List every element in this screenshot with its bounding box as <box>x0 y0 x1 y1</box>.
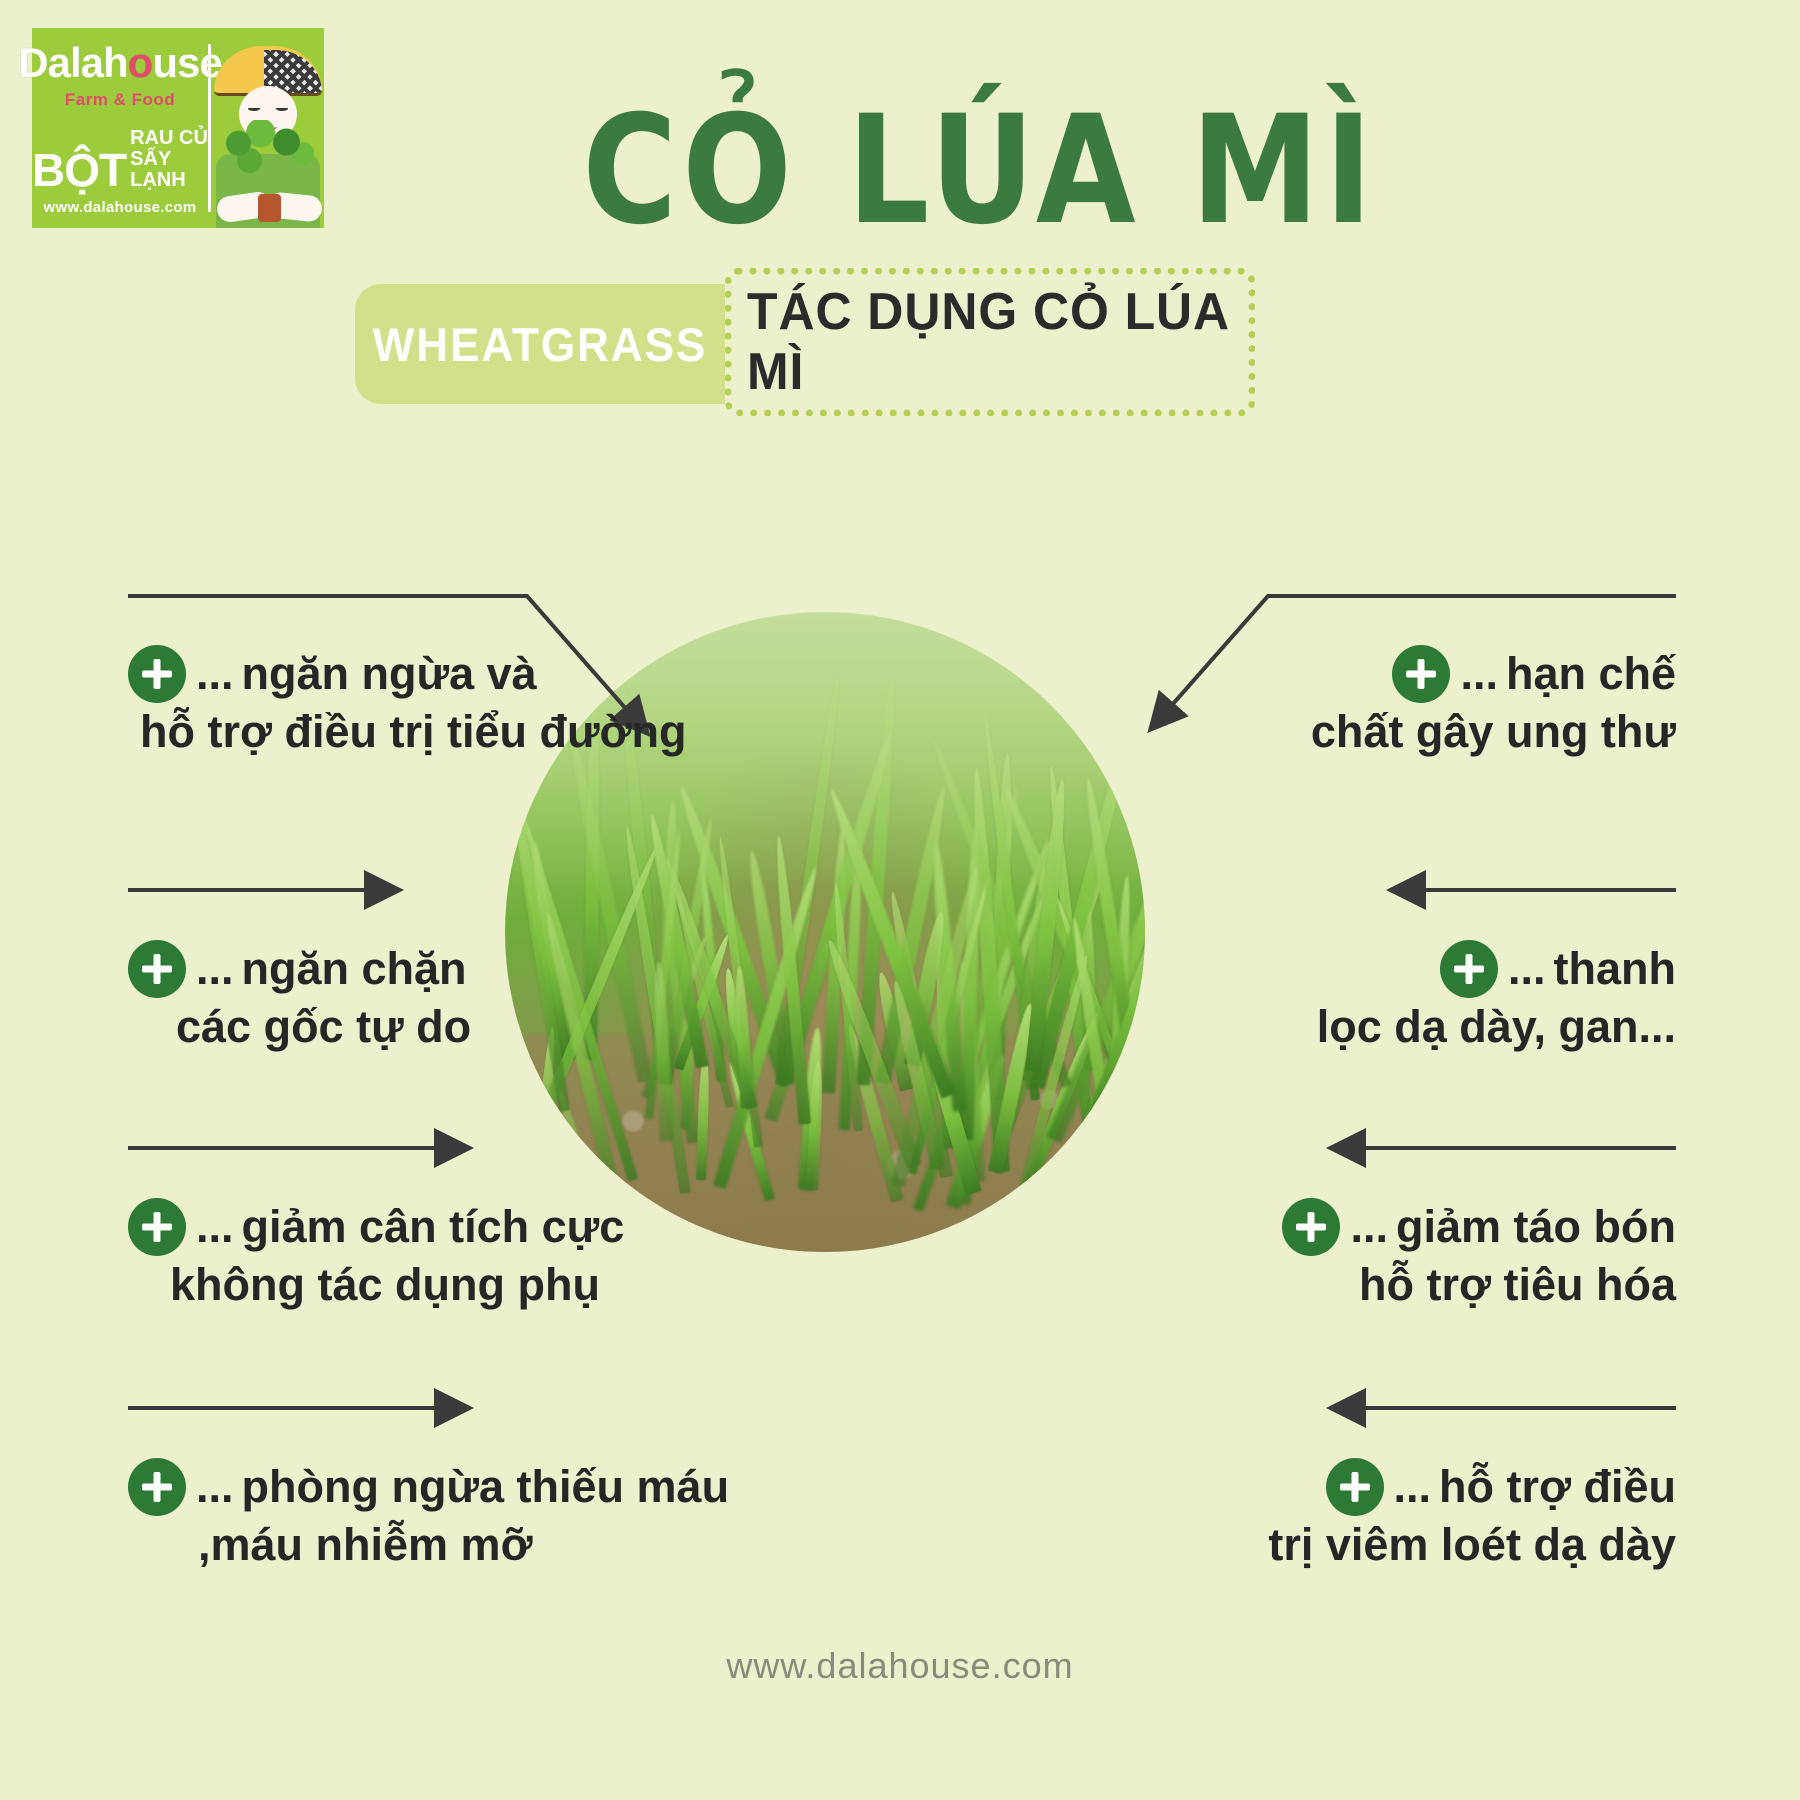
benefit-text-line2: lọc dạ dày, gan... <box>1317 998 1676 1056</box>
benefit-text-line2: hỗ trợ điều trị tiểu đường <box>140 703 687 761</box>
brand-logo-left: Dalahouse Farm & Food BỘT RAU CỦ SẤY LẠN… <box>32 28 208 228</box>
product-name-row: BỘT RAU CỦ SẤY LẠNH <box>32 128 208 191</box>
vegetables-icon <box>222 120 314 178</box>
plus-icon <box>128 1198 186 1256</box>
brand-wordmark-part-a: Dalah <box>18 39 127 86</box>
benefit-left-3: ... giảm cân tích cực không tác dụng phụ <box>128 1198 624 1314</box>
benefit-left-4: ... phòng ngừa thiếu máu ,máu nhiễm mỡ <box>128 1458 729 1574</box>
subtitle-text: TÁC DỤNG CỎ LÚA MÌ <box>747 268 1235 416</box>
benefit-text-line1: hỗ trợ điều <box>1439 1458 1676 1516</box>
plus-icon <box>1392 645 1450 703</box>
benefit-ellipsis: ... <box>1460 648 1498 700</box>
benefit-ellipsis: ... <box>196 648 234 700</box>
brand-wordmark: Dalahouse <box>18 42 221 84</box>
brand-logo-badge: Dalahouse Farm & Food BỘT RAU CỦ SẤY LẠN… <box>32 28 324 228</box>
benefit-text-line2: trị viêm loét dạ dày <box>1268 1516 1676 1574</box>
brand-url: www.dalahouse.com <box>32 199 208 216</box>
benefit-ellipsis: ... <box>196 943 234 995</box>
benefit-text-line1: ngăn ngừa và <box>242 645 537 703</box>
product-name-sub-line2: SẤY LẠNH <box>130 149 208 191</box>
footer-url: www.dalahouse.com <box>0 1645 1800 1687</box>
benefit-ellipsis: ... <box>1508 943 1546 995</box>
benefit-ellipsis: ... <box>1394 1461 1432 1513</box>
benefit-text-line1: phòng ngừa thiếu máu <box>242 1458 730 1516</box>
benefit-text-line1: giảm táo bón <box>1396 1198 1676 1256</box>
brand-wordmark-o: o <box>128 39 153 86</box>
plus-icon <box>1282 1198 1340 1256</box>
benefit-text-line2: các gốc tự do <box>176 998 471 1056</box>
eye-left-icon <box>248 106 260 111</box>
eye-right-icon <box>276 106 288 111</box>
plus-icon <box>128 1458 186 1516</box>
product-name-main: BỘT <box>32 150 126 191</box>
farmer-illustration <box>211 28 324 228</box>
product-name-sub-line1: RAU CỦ <box>130 128 208 149</box>
benefit-text-line2: ,máu nhiễm mỡ <box>198 1516 729 1574</box>
benefit-text-line1: hạn chế <box>1506 645 1676 703</box>
plus-icon <box>1440 940 1498 998</box>
benefit-ellipsis: ... <box>196 1461 234 1513</box>
benefit-right-1: ... hạn chế chất gây ung thư <box>1311 645 1676 761</box>
brand-tagline: Farm & Food <box>65 90 175 110</box>
benefit-right-4: ... hỗ trợ điều trị viêm loét dạ dày <box>1268 1458 1676 1574</box>
benefit-ellipsis: ... <box>1350 1201 1388 1253</box>
plus-icon <box>128 940 186 998</box>
benefit-text-line1: thanh <box>1554 940 1676 998</box>
benefit-text-line1: giảm cân tích cực <box>242 1198 625 1256</box>
cuff-right <box>258 194 272 222</box>
benefit-right-3: ... giảm táo bón hỗ trợ tiêu hóa <box>1282 1198 1676 1314</box>
page-title: CỎ LÚA MÌ <box>447 96 1513 246</box>
benefit-ellipsis: ... <box>196 1201 234 1253</box>
benefit-text-line2: không tác dụng phụ <box>170 1256 624 1314</box>
plus-icon <box>128 645 186 703</box>
benefit-left-1: ... ngăn ngừa và hỗ trợ điều trị tiểu đư… <box>128 645 687 761</box>
benefit-text-line1: ngăn chặn <box>242 940 467 998</box>
benefit-right-2: ... thanh lọc dạ dày, gan... <box>1317 940 1676 1056</box>
benefit-text-line2: hỗ trợ tiêu hóa <box>1282 1256 1676 1314</box>
wheatgrass-chip: WHEATGRASS <box>355 284 725 404</box>
benefit-text-line2: chất gây ung thư <box>1311 703 1676 761</box>
product-name-sub: RAU CỦ SẤY LẠNH <box>130 128 208 191</box>
wheatgrass-chip-label: WHEATGRASS <box>373 317 708 372</box>
plus-icon <box>1326 1458 1384 1516</box>
subtitle-bar: WHEATGRASS TÁC DỤNG CỎ LÚA MÌ <box>355 268 1255 416</box>
benefit-left-2: ... ngăn chặn các gốc tự do <box>128 940 471 1056</box>
